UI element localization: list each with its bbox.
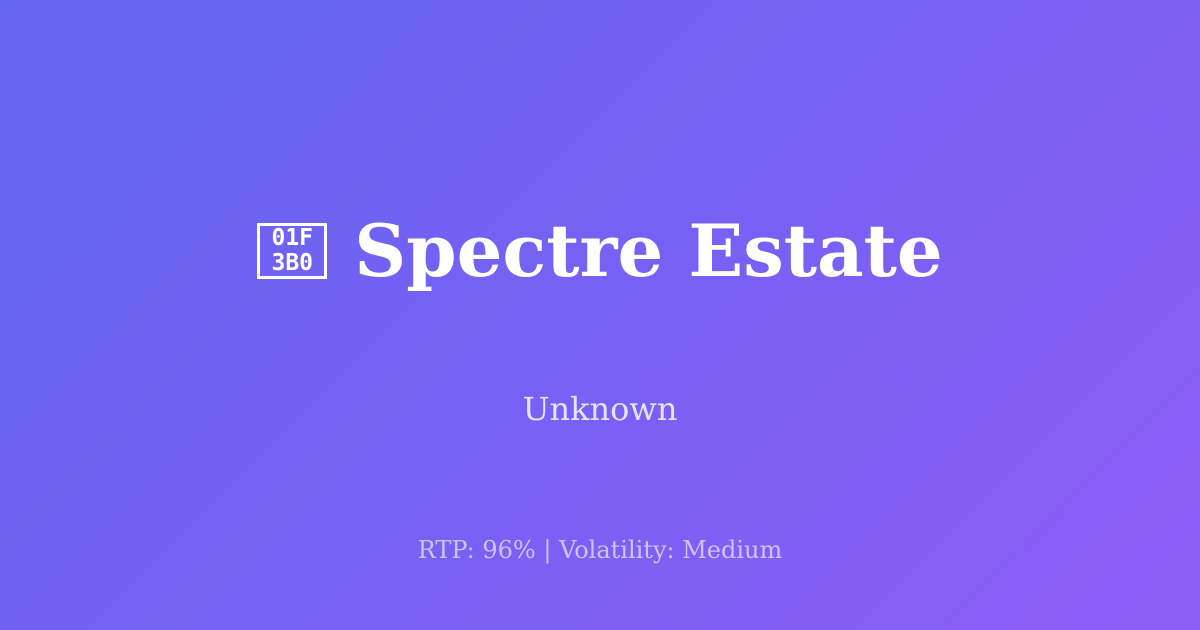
page-title: Spectre Estate xyxy=(354,215,942,287)
game-preview-card: 01F 3B0 Spectre Estate Unknown RTP: 96% … xyxy=(0,0,1200,630)
codepoint-row-top: 01F xyxy=(271,226,313,251)
provider-subtitle: Unknown xyxy=(523,393,678,425)
slot-machine-icon: 01F 3B0 xyxy=(257,223,327,279)
codepoint-row-bottom: 3B0 xyxy=(271,251,313,276)
title-row: 01F 3B0 Spectre Estate xyxy=(257,167,942,335)
stats-line: RTP: 96% | Volatility: Medium xyxy=(0,538,1200,562)
